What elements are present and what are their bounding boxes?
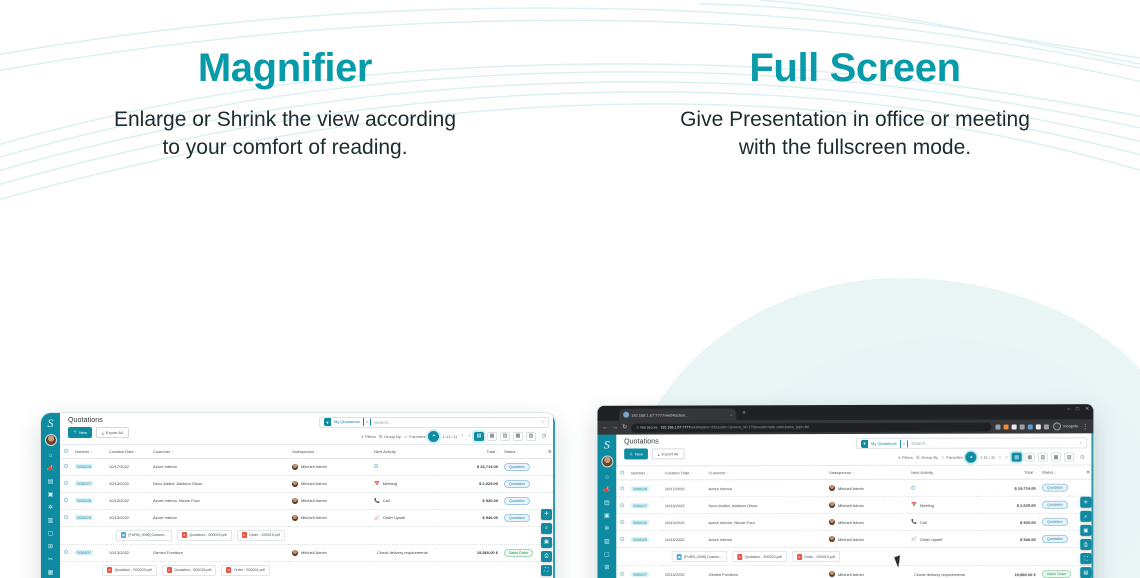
cell-salesperson: Mitchell Admin [289,544,371,561]
avatar [292,481,298,487]
cell-next-activity[interactable]: 📅Meeting [371,475,439,492]
extension-white-icon[interactable] [1012,424,1017,429]
odoo-app-laptop: S ⌂ 📣 ▤ ▣ ✲ ▥ ▢ ⊞ ✂ ▦ ⛫ ⚘ ⚯ [597,433,1093,578]
search-icon[interactable]: ⌕ [541,419,544,425]
extension-dark-icon[interactable] [1044,424,1049,429]
checkbox-icon[interactable] [64,449,68,453]
pdf-file-icon: A [797,553,802,559]
sidebar-item-contacts[interactable]: ▥ [600,537,613,547]
extension-gray-icon[interactable] [1020,424,1025,429]
cell-total: $ 546.00 [439,509,501,526]
image-file-icon: ▣ [677,553,682,559]
status-badge: Sales Order [1042,570,1071,578]
browser-tabstrip: 192.168.1.67:7777/web#action... × + – □ … [597,404,1093,421]
attachment-chip[interactable]: AQuotation - S00023.pdf [732,551,786,562]
view-activity-icon[interactable]: ◷ [539,432,549,441]
scrollbar[interactable] [1091,433,1093,578]
fullscreen-icon[interactable]: ⛶ [1080,553,1091,564]
magnifier-icon[interactable]: ⌖ [966,452,977,463]
cell-number[interactable]: S00025 [72,509,106,526]
table-header-row: Number ↕ Creation Date ↕ Customer ↕ Sale… [60,445,555,459]
print-icon[interactable]: ⎙ [1080,539,1091,550]
sidebar-item-box[interactable]: ▢ [600,550,613,560]
bookmark-icon[interactable] [996,424,1001,429]
activity-icon: 📅 [911,502,917,507]
avatar [292,550,298,556]
record-number: S00026 [631,519,649,524]
filters-label: Filters [902,455,913,460]
cell-next-activity[interactable]: 📈Order Upsell [371,509,439,526]
checkbox-icon[interactable] [620,536,624,540]
group-icon: ☰ [916,455,920,460]
cell-number[interactable]: S00028 [628,480,662,497]
filters-button[interactable]: ⩔Filters [361,434,376,439]
plus-icon: ＋ [73,429,77,435]
sort-icon: ↕ [690,471,692,475]
attachment-label: [FURN_0096] Custom... [129,533,167,537]
sidebar-item-calendar[interactable]: ▤ [600,498,613,508]
magnifier-rail: ✛ ⌕ ▣ ⎙ ⛶ ▤ ✲ [541,509,552,578]
checkbox-icon[interactable] [64,498,68,502]
cell-status: Quotation [1039,496,1083,513]
status-badge: Sales Order [504,549,533,557]
row-checkbox[interactable] [616,530,628,547]
row-checkbox[interactable] [616,514,628,531]
cell-total: $ 2,025.00 [976,496,1038,513]
group-by-button[interactable]: ☰Group By [916,455,938,460]
avatar [829,536,835,542]
cell-salesperson: Mitchell Admin [826,565,908,578]
extension-blue-icon[interactable] [1028,424,1033,429]
laptop-device: 192.168.1.67:7777/web#action... × + – □ … [590,405,1098,578]
status-badge: Quotation [504,480,530,488]
search-input[interactable]: Search... [374,420,538,425]
sort-icon: ↕ [727,471,729,475]
quotations-list[interactable]: Number ↕ Creation Date ↕ Customer ↕ Sale… [60,445,555,578]
record-number: S00007 [75,550,93,555]
cell-total: $ 546.00 [976,530,1038,547]
search-input[interactable]: Search... [911,440,1076,445]
avatar[interactable] [45,434,57,446]
cell-customer: Azure Interior, Nicole Ford [150,492,289,509]
col-status[interactable]: Status ↕ [1039,465,1083,479]
fullscreen-subtitle-line2: with the fullscreen mode. [570,134,1140,162]
export-all-button[interactable]: ⤓ Export All [652,448,684,459]
cell-number[interactable]: S00007 [72,544,106,561]
favorites-label: Favorites [409,434,425,439]
sidebar-item-scissors[interactable]: ✂ [44,555,57,565]
sidebar-item-chart[interactable]: ▦ [44,568,57,578]
cell-next-activity[interactable]: 📅Meeting [908,496,976,513]
row-checkbox[interactable] [60,475,72,492]
sidebar-item-contacts[interactable]: ▥ [44,516,57,526]
cell-status: Quotation [501,492,545,509]
sort-icon: ↕ [646,471,648,475]
search-facet-label: My Quotations [331,418,364,426]
new-button[interactable]: ＋ New [68,427,92,438]
attachment-chip[interactable]: AQuotation - S00023.pdf [177,530,232,541]
new-button-label: New [79,430,87,435]
magnifier-subtitle-line2: to your comfort of reading. [0,134,570,162]
attachment-chip[interactable]: AOrder - S00001.pdf [221,565,269,576]
attachments-row-top: ▣[FURN_0096] Custom...AQuotation - S0002… [60,526,555,544]
favorites-button[interactable]: ☆Favorites [404,434,426,439]
search-icon[interactable]: ⌕ [1079,440,1082,446]
col-status[interactable]: Status ↕ [501,445,545,459]
forward-icon[interactable]: → [612,425,618,431]
activity-icon: 📈 [911,537,917,542]
sidebar-item-box[interactable]: ▢ [44,529,57,539]
status-badge: Quotation [504,497,530,505]
cell-total: $ 24,714.00 [439,458,501,475]
avatar [829,519,835,525]
funnel-icon: ⩔ [361,434,363,439]
cell-number[interactable]: S00025 [628,530,662,547]
checkbox-icon[interactable] [64,515,68,519]
scrollbar[interactable] [553,413,555,578]
cell-next-activity[interactable]: Check delivery requirements [371,544,439,561]
activity-icon: 📞 [911,519,917,524]
checkbox-icon[interactable] [620,571,624,575]
app-sidebar-laptop: S ⌂ 📣 ▤ ▣ ✲ ▥ ▢ ⊞ ✂ ▦ ⛫ ⚘ ⚯ [597,434,616,578]
new-tab-button[interactable]: + [742,410,745,416]
pager-next-icon[interactable]: › [467,433,471,439]
magnifier-subtitle-line1: Enlarge or Shrink the view according [0,106,570,134]
url-path: /web#action=292&cids=1&menu_id=175&model… [690,425,809,429]
cell-status: Sales Order [1039,565,1083,578]
record-number: S00025 [631,536,649,541]
filter-icon: ▼ [324,420,331,425]
checkbox-icon[interactable] [620,486,624,490]
browser-toolbar: ← → ↻ ⚠ Not secure 192.168.1.67:7777/web… [597,419,1093,434]
attachments-row-bottom: AQuotation - S00023.pdfAQuotation - S000… [60,561,555,578]
extension-orange-icon[interactable] [1004,424,1009,429]
sidebar-item-settings[interactable]: ✲ [600,524,613,534]
row-checkbox[interactable] [60,544,72,561]
cell-number[interactable]: S00028 [72,458,106,475]
table-row[interactable]: S0002810/17/2022Azure InteriorMitchell A… [60,458,555,475]
cell-status: Quotation [501,509,545,526]
select-all-checkbox-header[interactable] [616,466,628,479]
attachment-chip[interactable]: AOrder - S00015.pdf [792,551,840,562]
avatar[interactable] [601,455,613,467]
incognito-label: Incognito [1063,424,1078,428]
col-customer[interactable]: Customer ↕ [150,445,289,459]
cell-customer: Azure Interior [705,479,826,496]
cell-next-activity[interactable] [908,479,976,496]
cell-next-activity[interactable] [371,458,439,475]
table-header-row: Number ↕ Creation Date ↕ Customer ↕ Sale… [616,465,1093,479]
table-row[interactable]: S0002610/13/2022Azure Interior, Nicole F… [60,492,555,509]
url-host: 192.168.1.67:7777 [660,425,690,429]
page-title: Quotations [624,438,856,446]
cell-salesperson: Mitchell Admin [826,513,908,530]
cell-number[interactable]: S00027 [72,475,106,492]
pager-prev-icon[interactable]: ‹ [461,433,465,439]
row-checkbox[interactable] [616,480,628,497]
col-creation-date[interactable]: Creation Date ↕ [662,466,706,480]
attachment-chip-list: ▣[FURN_0096] Custom...AQuotation - S0002… [672,551,1091,562]
zoom-reset-icon[interactable]: ✛ [1080,497,1091,508]
browser-tab[interactable]: 192.168.1.67:7777/web#action... × [619,408,736,420]
zoom-out-icon[interactable]: ▣ [1080,525,1091,536]
col-next-activity[interactable]: Next Activity [908,466,976,480]
pager-label: 1-11 / 11 [980,455,995,460]
view-pivot-icon[interactable]: ▩ [513,432,523,441]
pdf-file-icon: A [242,532,247,538]
cell-salesperson: Mitchell Admin [289,492,371,509]
search-facet-my-quotations[interactable]: ▼ My Quotations × [324,418,371,426]
search-facet-remove-icon[interactable]: × [364,418,371,426]
sidebar-item-home[interactable]: ⌂ [600,472,613,482]
browser-tab-title: 192.168.1.67:7777/web#action... [631,412,689,417]
table-body: S0002810/17/2022Azure InteriorMitchell A… [60,458,555,578]
no-activity-icon [911,485,915,489]
cell-status: Quotation [1039,479,1083,496]
search-facet-remove-icon[interactable]: × [901,439,908,447]
checkbox-icon[interactable] [620,470,624,474]
checkbox-icon[interactable] [64,464,68,468]
col-total[interactable]: Total ↕ [976,465,1038,479]
attachment-chip[interactable]: AOrder - S00015.pdf [237,530,285,541]
col-next-activity[interactable]: Next Activity [371,445,439,459]
search-bar[interactable]: ▼ My Quotations × Search... ⌕ [319,417,549,428]
col-creation-date[interactable]: Creation Date ↕ [106,445,150,459]
magnifier-icon[interactable]: ⌖ [428,431,439,442]
magnifier-title: Magnifier [0,46,570,90]
col-salesperson[interactable]: Salesperson ↕ [826,466,908,480]
status-badge: Quotation [1042,501,1068,509]
sidebar-item-grid[interactable]: ⊞ [600,563,613,573]
sidebar-item-grid[interactable]: ⊞ [44,542,57,552]
sidebar-item-megaphone[interactable]: 📣 [44,464,57,474]
row-checkbox[interactable] [60,509,72,526]
export-all-label: Export All [106,430,123,435]
layout-icon[interactable]: ▤ [1080,567,1091,578]
window-controls: – □ ✕ [1067,407,1089,412]
row-checkbox[interactable] [60,492,72,509]
table-body: S0002810/17/2022Azure InteriorMitchell A… [616,479,1093,578]
col-number[interactable]: Number ↕ [628,466,662,479]
view-kanban-icon[interactable]: ▦ [487,432,497,441]
select-all-checkbox-header[interactable] [60,445,72,459]
filters-button[interactable]: ⩔Filters [898,455,913,460]
magnifier-rail-laptop: ✛ ⌕ ▣ ⎙ ⛶ ▤ ✲ [1080,497,1091,578]
attachment-label: Order - S00015.pdf [249,533,280,537]
cell-number[interactable]: S00027 [628,497,662,514]
table-row[interactable]: S0000710/13/2022Gemini FurnitureMitchell… [616,565,1093,578]
cell-number[interactable]: S00026 [72,492,106,509]
attachment-chip[interactable]: AQuotation - S00023.pdf [102,565,157,576]
cell-next-activity[interactable]: 📞Call [908,513,976,530]
cell-next-activity[interactable]: Check delivery requirements [908,565,976,578]
incognito-indicator[interactable]: Incognito [1053,422,1078,430]
control-panel: Quotations ＋ New ⤓ Export All [60,413,555,445]
view-list-icon[interactable]: ▤ [1012,452,1022,461]
status-badge: Quotation [1042,518,1068,526]
fullscreen-subtitle-line1: Give Presentation in office or meeting [570,106,1140,134]
col-total[interactable]: Total ↕ [439,445,501,459]
pager-next-icon[interactable]: › [1005,454,1009,460]
sort-icon: ↕ [852,471,854,475]
attachment-label: Order - S00001.pdf [234,568,265,572]
record-number: S00026 [75,498,93,503]
row-checkbox[interactable] [616,497,628,514]
view-pivot-icon[interactable]: ▩ [1051,452,1061,461]
attachment-chip[interactable]: ▣[FURN_0096] Custom... [116,530,172,541]
cell-next-activity[interactable]: 📈Order Upsell [908,530,976,547]
control-panel-tools: ⩔Filters ☰Group By ☆Favorites ⌖ 1-11 / 1… [856,451,1087,463]
avatar [292,515,298,521]
fullscreen-icon[interactable]: ⛶ [541,565,552,576]
sidebar-item-home[interactable]: ⌂ [44,451,57,461]
cell-creation-date: 10/13/2022 [662,497,706,514]
window-maximize-icon[interactable]: □ [1076,407,1079,412]
back-icon[interactable]: ← [602,425,608,431]
checkbox-icon[interactable] [64,550,68,554]
view-graph-icon[interactable]: ▨ [526,432,536,441]
app-sidebar: S ⌂ 📣 ▤ ▣ ✲ ▥ ▢ ⊞ ✂ ▦ ⛫ ⚘ ⚯ ▩ ✱ [41,413,60,578]
zoom-reset-icon[interactable]: ✛ [541,509,552,520]
new-button[interactable]: ＋ New [624,448,648,459]
attachment-chip[interactable]: AQuotation - S00015.pdf [162,565,217,576]
print-icon[interactable]: ⎙ [541,551,552,562]
group-by-label: Group By [921,455,938,460]
record-number: S00028 [631,486,649,491]
zoom-out-icon[interactable]: ▣ [541,537,552,548]
no-activity-icon [374,464,378,468]
cell-creation-date: 10/13/2022 [662,530,706,547]
cell-creation-date: 10/13/2022 [106,509,150,526]
attachment-label: Order - S00015.pdf [804,554,835,558]
sidebar-item-megaphone[interactable]: 📣 [600,485,613,495]
incognito-icon [1053,422,1061,430]
cell-customer: Gemini Furniture [705,565,826,578]
view-activity-icon[interactable]: ◷ [1077,452,1087,461]
cell-customer: Deco Addict, Addison Olson [705,496,826,513]
cell-total: 19,560.00 € [439,544,501,561]
sort-icon: ↕ [135,450,137,454]
table-row[interactable]: S0000710/13/2022Gemini FurnitureMitchell… [60,544,555,561]
record-number: S00027 [75,481,93,486]
cell-salesperson: Mitchell Admin [289,458,371,475]
address-bar[interactable]: ⚠ Not secure 192.168.1.67:7777/web#actio… [631,422,992,432]
favorites-button[interactable]: ☆Favorites [941,455,963,460]
checkbox-icon[interactable] [620,519,624,523]
section-magnifier: Magnifier Enlarge or Shrink the view acc… [0,0,570,162]
fullscreen-subtitle: Give Presentation in office or meeting w… [570,106,1140,162]
browser-viewport: S ⌂ 📣 ▤ ▣ ✲ ▥ ▢ ⊞ ✂ ▦ ⛫ ⚘ ⚯ [597,433,1093,578]
quotations-list-laptop[interactable]: Number ↕ Creation Date ↕ Customer ↕ Sale… [616,465,1093,578]
table-row[interactable]: S0002610/13/2022Azure Interior, Nicole F… [616,513,1093,530]
group-by-label: Group By [384,434,401,439]
checkbox-icon[interactable] [64,481,68,485]
close-icon[interactable]: × [730,412,732,417]
col-number[interactable]: Number ↕ [72,445,106,459]
row-checkbox[interactable] [60,458,72,475]
sidebar-item-document[interactable]: ▣ [44,490,57,500]
magnifier-subtitle: Enlarge or Shrink the view according to … [0,106,570,162]
activity-icon: 📞 [374,499,380,504]
cell-salesperson: Mitchell Admin [289,475,371,492]
cell-next-activity[interactable]: 📞Call [371,492,439,509]
table-row[interactable]: S0002710/13/2022Deco Addict, Addison Ols… [60,475,555,492]
search-facet-label: My Quotations [868,439,901,447]
view-graph-icon[interactable]: ▨ [1064,452,1074,461]
export-all-button[interactable]: ⤓ Export All [96,427,129,438]
table-row[interactable]: S0002810/17/2022Azure InteriorMitchell A… [616,479,1093,497]
app-main-laptop: Quotations ＋ New ⤓ Export All [616,433,1093,578]
window-minimize-icon[interactable]: – [1067,407,1070,412]
sidebar-item-document[interactable]: ▣ [600,511,613,521]
pager-label: 1-11 / 11 [442,434,457,439]
headings-row: Magnifier Enlarge or Shrink the view acc… [0,0,1140,162]
cell-status: Quotation [1039,530,1083,547]
plus-icon: ＋ [629,451,633,457]
table-row[interactable]: S0002510/13/2022Azure InteriorMitchell A… [60,509,555,526]
cell-total: $ 24,714.00 [976,479,1038,496]
view-kanban-icon[interactable]: ▦ [1025,452,1035,461]
attachment-chip[interactable]: ▣[FURN_0096] Custom... [672,551,727,562]
cell-customer: Azure Interior [705,530,826,547]
control-panel-tools: ⩔Filters ☰Group By ☆Favorites ⌖ 1-11 / 1… [319,431,549,442]
attachment-chip-list: AQuotation - S00023.pdfAQuotation - S000… [102,565,552,576]
col-customer[interactable]: Customer ↕ [705,466,826,480]
tablet-device: S ⌂ 📣 ▤ ▣ ✲ ▥ ▢ ⊞ ✂ ▦ ⛫ ⚘ ⚯ ▩ ✱ [40,412,556,578]
status-badge: Quotation [1042,535,1068,543]
view-list-icon[interactable]: ▤ [474,432,484,441]
activity-icon: 📅 [374,482,380,487]
col-salesperson[interactable]: Salesperson ↕ [289,445,371,459]
browser-menu-icon[interactable]: ⋮ [1082,423,1088,430]
table-row[interactable]: S0002710/13/2022Deco Addict, Addison Ols… [616,496,1093,514]
not-secure-indicator[interactable]: ⚠ Not secure [636,425,657,429]
view-calendar-icon[interactable]: ▥ [1038,452,1048,461]
sidebar-item-calendar[interactable]: ▤ [44,477,57,487]
search-facet-my-quotations[interactable]: ▼ My Quotations × [861,439,908,447]
sidebar-item-settings[interactable]: ✲ [44,503,57,513]
reload-icon[interactable]: ↻ [622,424,627,430]
search-bar[interactable]: ▼ My Quotations × Search... ⌕ [856,437,1087,449]
extension-light-icon[interactable] [1036,424,1041,429]
cell-status: Quotation [1039,513,1083,530]
view-calendar-icon[interactable]: ▥ [500,432,510,441]
group-by-button[interactable]: ☰Group By [379,434,401,439]
favorites-label: Favorites [946,455,963,460]
cell-creation-date: 10/13/2022 [106,544,150,561]
favicon-icon [623,412,629,418]
attachment-label: [FURN_0096] Custom... [684,554,722,558]
browser-window: 192.168.1.67:7777/web#action... × + – □ … [597,404,1093,578]
avatar [829,502,835,508]
checkbox-icon[interactable] [620,503,624,507]
pager-prev-icon[interactable]: ‹ [998,454,1002,460]
window-close-icon[interactable]: ✕ [1085,407,1089,412]
app-logo: S [43,416,58,431]
section-fullscreen: Full Screen Give Presentation in office … [570,0,1140,162]
cell-total: $ 2,025.00 [439,475,501,492]
cell-number[interactable]: S00007 [628,565,662,578]
extension-icons [996,424,1049,429]
zoom-in-icon[interactable]: ⌕ [541,523,552,534]
row-checkbox[interactable] [616,565,628,578]
zoom-in-icon[interactable]: ⌕ [1080,511,1091,522]
cell-customer: Azure Interior [150,458,289,475]
cell-number[interactable]: S00026 [628,513,662,530]
cell-creation-date: 10/17/2022 [106,458,150,475]
attachment-chip-list: ▣[FURN_0096] Custom...AQuotation - S0002… [116,530,552,541]
table-row[interactable]: S0002510/13/2022Azure InteriorMitchell A… [616,530,1093,547]
